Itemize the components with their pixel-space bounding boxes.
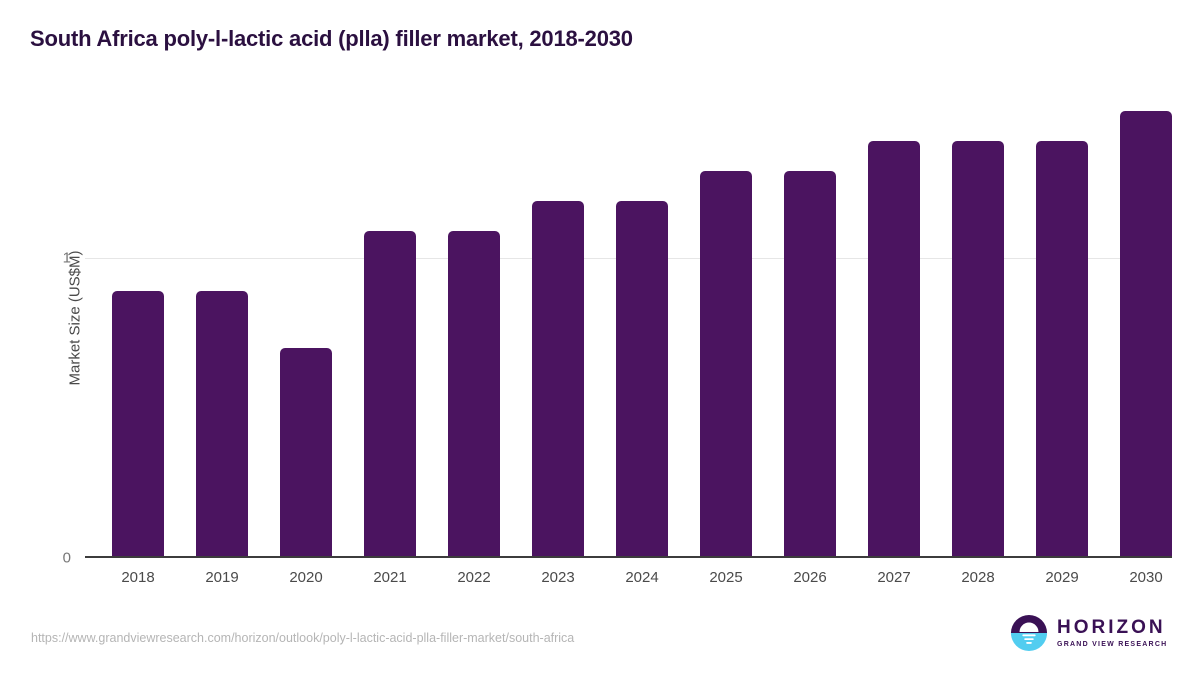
x-tick-label-2021: 2021 [348, 569, 432, 586]
x-tick-label-2020: 2020 [264, 569, 348, 586]
x-tick-label-2028: 2028 [936, 569, 1020, 586]
brand-logo: HORIZON GRAND VIEW RESEARCH [1010, 614, 1167, 652]
x-tick-label-2026: 2026 [768, 569, 852, 586]
bar-2029[interactable] [1036, 141, 1088, 558]
bar-slot [348, 78, 432, 558]
y-tick-label: 1 [63, 250, 71, 267]
x-tick-label-2029: 2029 [1020, 569, 1104, 586]
bar-slot [852, 78, 936, 558]
logo-tagline: GRAND VIEW RESEARCH [1057, 641, 1167, 648]
x-tick-label-2025: 2025 [684, 569, 768, 586]
bar-slot [1020, 78, 1104, 558]
bar-2019[interactable] [196, 291, 248, 558]
bar-2028[interactable] [952, 141, 1004, 558]
bar-2018[interactable] [112, 291, 164, 558]
x-tick-label-2024: 2024 [600, 569, 684, 586]
x-tick-label-2030: 2030 [1104, 569, 1188, 586]
bar-2026[interactable] [784, 171, 836, 558]
bar-2025[interactable] [700, 171, 752, 558]
y-tick-label: 0 [63, 550, 71, 567]
page-title: South Africa poly-l-lactic acid (plla) f… [30, 26, 633, 52]
chart-screenshot: South Africa poly-l-lactic acid (plla) f… [0, 0, 1200, 675]
bar-slot [600, 78, 684, 558]
bar-slot [432, 78, 516, 558]
horizon-sunrise-icon [1010, 614, 1048, 652]
x-tick-label-2022: 2022 [432, 569, 516, 586]
y-axis-title: Market Size (US$M) [67, 250, 84, 385]
bar-slot [768, 78, 852, 558]
logo-wordmark: HORIZON [1057, 618, 1167, 637]
x-axis-line [85, 556, 1172, 558]
bar-slot [684, 78, 768, 558]
bar-slot [516, 78, 600, 558]
bar-slot [1104, 78, 1188, 558]
bar-2030[interactable] [1120, 111, 1172, 558]
bar-2022[interactable] [448, 231, 500, 558]
bar-2021[interactable] [364, 231, 416, 558]
logo-text: HORIZON GRAND VIEW RESEARCH [1057, 618, 1167, 648]
bars-layer [85, 78, 1172, 558]
bar-2027[interactable] [868, 141, 920, 558]
bar-slot [264, 78, 348, 558]
bar-2024[interactable] [616, 201, 668, 558]
x-tick-label-2019: 2019 [180, 569, 264, 586]
bar-2020[interactable] [280, 348, 332, 558]
bar-slot [96, 78, 180, 558]
bar-2023[interactable] [532, 201, 584, 558]
source-url[interactable]: https://www.grandviewresearch.com/horizo… [31, 631, 574, 645]
x-tick-label-2023: 2023 [516, 569, 600, 586]
bar-slot [936, 78, 1020, 558]
bar-slot [180, 78, 264, 558]
x-tick-label-2027: 2027 [852, 569, 936, 586]
x-tick-label-2018: 2018 [96, 569, 180, 586]
plot-area: Market Size (US$M) 01 201820192020202120… [85, 78, 1172, 558]
